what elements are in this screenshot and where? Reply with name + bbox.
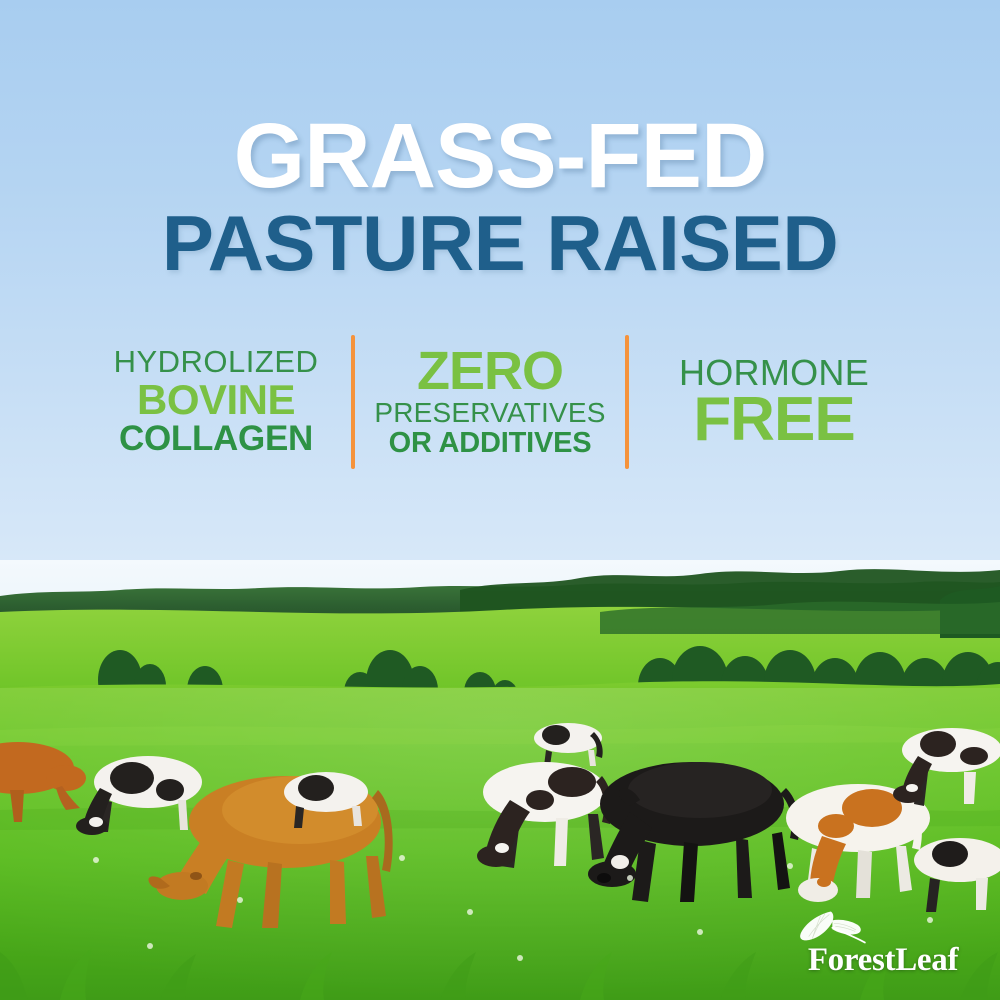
brand-logo[interactable]: ForestLeaf: [788, 910, 978, 982]
benefit-line-3: OR ADDITIVES: [389, 428, 592, 459]
headline-block: GRASS-FED PASTURE RAISED: [0, 112, 1000, 282]
page-subtitle: PASTURE RAISED: [0, 205, 1000, 281]
benefit-line-2: BOVINE: [137, 379, 295, 421]
benefit-line-1: HYDROLIZED: [114, 346, 319, 379]
benefits-row: HYDROLIZED BOVINE COLLAGEN ZERO PRESERVA…: [0, 332, 1000, 472]
benefit-line-3: COLLAGEN: [119, 421, 313, 457]
benefit-divider-1: [351, 335, 355, 469]
benefit-hormone-free: HORMONE FREE: [635, 332, 913, 472]
logo-wordmark: ForestLeaf: [788, 942, 978, 979]
benefit-line-2: PRESERVATIVES: [374, 398, 605, 428]
benefit-zero-preservatives: ZERO PRESERVATIVES OR ADDITIVES: [365, 332, 615, 472]
benefit-hydrolized-bovine-collagen: HYDROLIZED BOVINE COLLAGEN: [87, 332, 345, 472]
product-marketing-poster: GRASS-FED PASTURE RAISED HYDROLIZED BOVI…: [0, 0, 1000, 1000]
benefit-line-2: FREE: [693, 391, 854, 450]
page-title: GRASS-FED: [0, 112, 1000, 201]
benefit-divider-2: [625, 335, 629, 469]
leaf-icon: [788, 910, 877, 944]
benefit-line-1: ZERO: [417, 345, 563, 398]
